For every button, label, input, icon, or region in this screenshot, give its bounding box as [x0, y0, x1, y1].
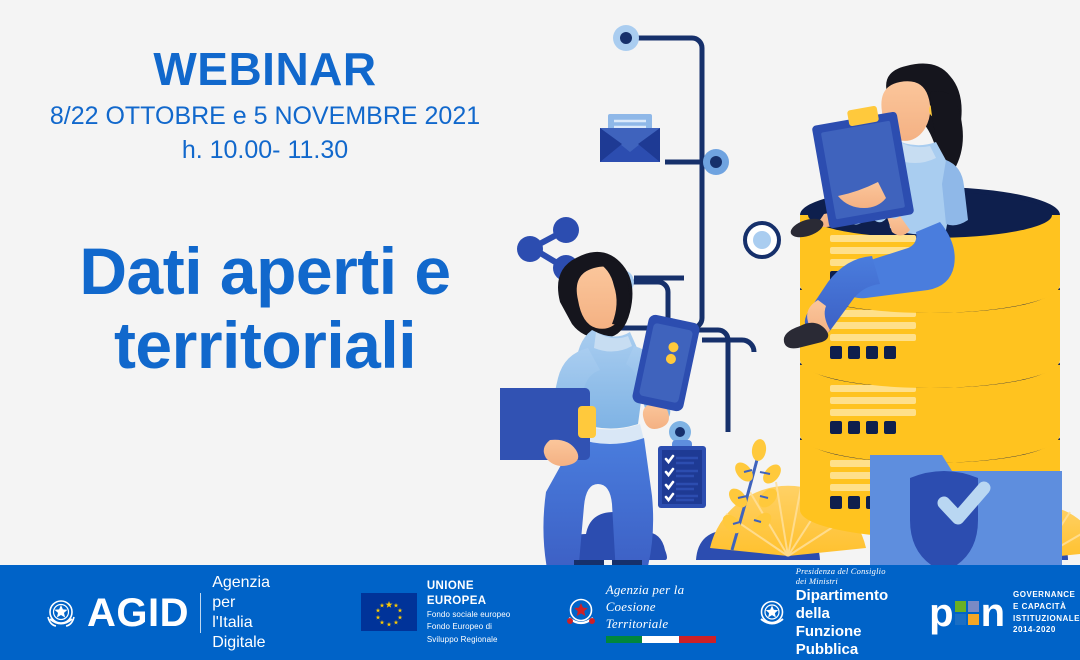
webinar-label: WEBINAR: [0, 45, 530, 93]
logo-dipartimento-funzione-pubblica: Presidenza del Consiglio dei Ministri Di…: [756, 566, 893, 659]
italian-flag-icon: [606, 636, 716, 643]
eu-text-block: UNIONE EUROPEA Fondo sociale europeo Fon…: [427, 579, 522, 646]
logo-european-union: UNIONE EUROPEA Fondo sociale europeo Fon…: [361, 579, 522, 646]
pon-subtitle: GOVERNANCE E CAPACITÀ ISTITUZIONALE 2014…: [1013, 589, 1080, 635]
checklist-clipboard-icon: [658, 440, 706, 508]
agid-subtitle: Agenzia per l'Italia Digitale: [212, 573, 271, 653]
pon-subtitle-line-1: GOVERNANCE: [1013, 589, 1080, 601]
pon-wordmark: p n: [929, 597, 1004, 629]
page-title-line-1: Dati aperti e: [0, 235, 530, 309]
webinar-hours: h. 10.00- 11.30: [0, 135, 530, 166]
eu-subtitle-1: Fondo sociale europeo: [427, 609, 522, 621]
dfp-presidenza-line: Presidenza del Consiglio dei Ministri: [796, 566, 893, 586]
eu-subtitle-2: Fondo Europeo di Sviluppo Regionale: [427, 621, 522, 646]
coesione-line-1: Agenzia per la: [606, 582, 716, 599]
dfp-title-line-2: Funzione Pubblica: [796, 623, 893, 659]
illustration: [500, 0, 1080, 565]
dfp-title-line-1: Dipartimento della: [796, 587, 893, 623]
pon-squares-icon: [955, 601, 979, 625]
dfp-title: Dipartimento della Funzione Pubblica: [796, 587, 893, 659]
eu-flag-icon: [361, 593, 417, 631]
webinar-poster: WEBINAR 8/22 OTTOBRE e 5 NOVEMBRE 2021 h…: [0, 0, 1080, 660]
republic-emblem-icon: [44, 595, 78, 631]
republic-emblem-icon: [564, 594, 598, 630]
agid-wordmark: AGID: [87, 593, 189, 633]
republic-emblem-icon: [756, 596, 788, 630]
shield-folder-icon: [870, 455, 1062, 565]
coesione-text-block: Agenzia per la Coesione Territoriale: [606, 582, 716, 643]
agid-subtitle-line-2: l'Italia Digitale: [212, 613, 271, 653]
footer-logo-bar: AGID Agenzia per l'Italia Digitale: [0, 565, 1080, 660]
page-title-line-2: territoriali: [0, 309, 530, 383]
coesione-line-2: Coesione Territoriale: [606, 599, 716, 633]
pon-subtitle-line-4: 2014-2020: [1013, 624, 1080, 636]
webinar-dates: 8/22 OTTOBRE e 5 NOVEMBRE 2021: [0, 101, 530, 132]
pon-letter-p: p: [929, 597, 952, 629]
agid-divider: [200, 593, 201, 633]
pon-subtitle-line-2: E CAPACITÀ: [1013, 601, 1080, 613]
page-title: Dati aperti e territoriali: [0, 235, 530, 383]
header-text-block: WEBINAR 8/22 OTTOBRE e 5 NOVEMBRE 2021 h…: [0, 45, 530, 166]
logo-pon: p n GOVERNANCE E CAPACITÀ ISTITUZIONALE …: [929, 589, 1080, 635]
eu-title: UNIONE EUROPEA: [427, 579, 522, 609]
agid-subtitle-line-1: Agenzia per: [212, 573, 271, 613]
pon-letter-n: n: [981, 597, 1004, 629]
envelope-icon: [600, 114, 660, 162]
logo-agid: AGID Agenzia per l'Italia Digitale: [44, 573, 271, 653]
logo-agenzia-coesione: Agenzia per la Coesione Territoriale: [564, 582, 716, 643]
coesione-script: Agenzia per la Coesione Territoriale: [606, 582, 716, 633]
dfp-text-block: Presidenza del Consiglio dei Ministri Di…: [796, 566, 893, 659]
pon-subtitle-line-3: ISTITUZIONALE: [1013, 613, 1080, 625]
